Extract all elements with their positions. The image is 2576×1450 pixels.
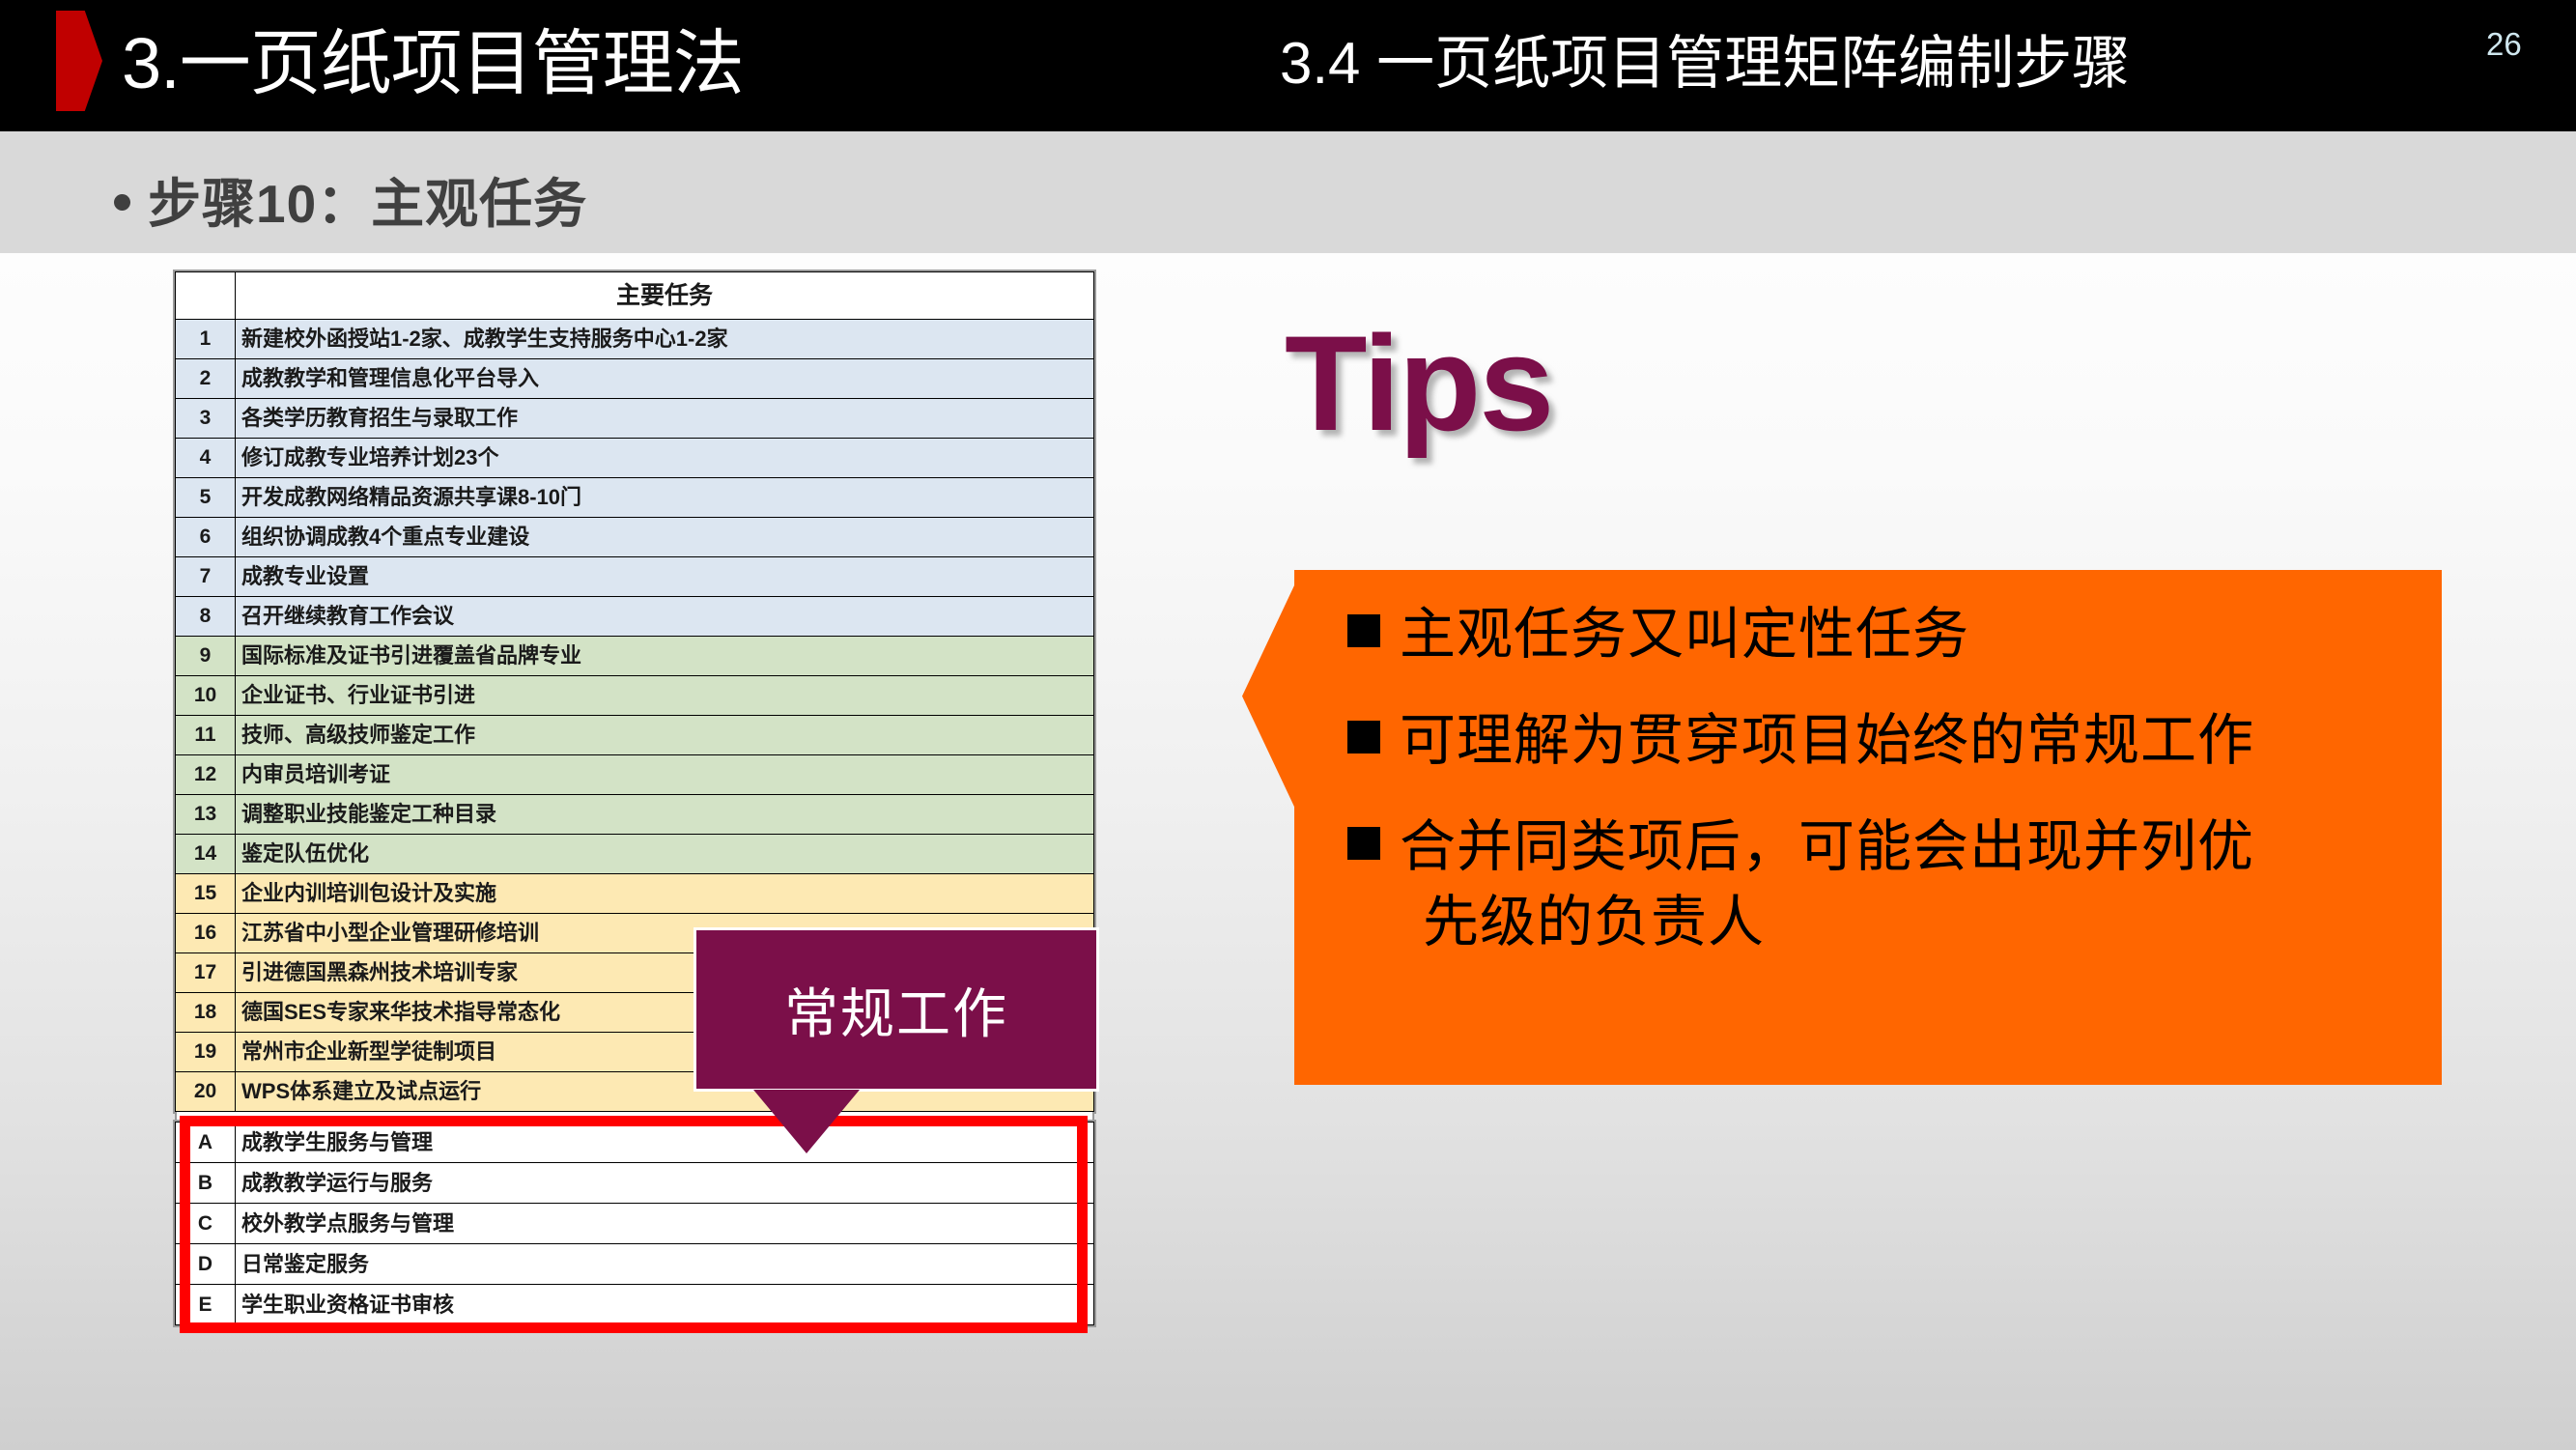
table-gap-spacer xyxy=(175,1112,1094,1122)
task-text-cell: 成教专业设置 xyxy=(236,557,1094,597)
routine-text-cell: 日常鉴定服务 xyxy=(236,1244,1094,1285)
routine-text-cell: 成教学生服务与管理 xyxy=(236,1123,1094,1163)
tips-list-item: 合并同类项后，可能会出现并列优先级的负责人 xyxy=(1347,810,2420,960)
table-row: 13调整职业技能鉴定工种目录 xyxy=(176,795,1094,835)
routine-text-cell: 学生职业资格证书审核 xyxy=(236,1285,1094,1325)
task-text-cell: 鉴定队伍优化 xyxy=(236,835,1094,874)
table-row: 11技师、高级技师鉴定工作 xyxy=(176,716,1094,755)
purple-callout-box: 常规工作 xyxy=(694,927,1099,1092)
task-index-cell: 8 xyxy=(176,597,236,637)
task-text-cell: 修订成教专业培养计划23个 xyxy=(236,439,1094,478)
step-heading: 步骤10：主观任务 xyxy=(114,155,1176,243)
task-text-cell: 内审员培训考证 xyxy=(236,755,1094,795)
task-text-cell: 国际标准及证书引进覆盖省品牌专业 xyxy=(236,637,1094,676)
step-heading-label: 步骤10：主观任务 xyxy=(148,160,587,238)
task-index-cell: 14 xyxy=(176,835,236,874)
routine-table-row: E学生职业资格证书审核 xyxy=(176,1285,1094,1325)
task-index-cell: 11 xyxy=(176,716,236,755)
routine-index-cell: E xyxy=(176,1285,236,1325)
tips-list-item-continuation: 先级的负责人 xyxy=(1400,885,2254,960)
task-index-cell: 1 xyxy=(176,320,236,359)
square-bullet-icon xyxy=(1347,721,1380,753)
task-text-cell: 技师、高级技师鉴定工作 xyxy=(236,716,1094,755)
table-row: 6组织协调成教4个重点专业建设 xyxy=(176,518,1094,557)
routine-index-cell: B xyxy=(176,1163,236,1204)
routine-table-row: B成教教学运行与服务 xyxy=(176,1163,1094,1204)
routine-index-cell: C xyxy=(176,1204,236,1244)
task-index-cell: 19 xyxy=(176,1033,236,1072)
table-row: 12内审员培训考证 xyxy=(176,755,1094,795)
task-index-cell: 16 xyxy=(176,914,236,953)
tips-list-item-label: 可理解为贯穿项目始终的常规工作 xyxy=(1400,703,2254,779)
task-index-cell: 15 xyxy=(176,874,236,914)
task-text-cell: 成教教学和管理信息化平台导入 xyxy=(236,359,1094,399)
task-index-cell: 6 xyxy=(176,518,236,557)
tips-title: Tips xyxy=(1285,311,1552,456)
task-index-cell: 3 xyxy=(176,399,236,439)
table-row: 3各类学历教育招生与录取工作 xyxy=(176,399,1094,439)
tips-list: 主观任务又叫定性任务可理解为贯穿项目始终的常规工作合并同类项后，可能会出现并列优… xyxy=(1347,597,2420,991)
task-index-cell: 20 xyxy=(176,1072,236,1112)
table-row: 15企业内训培训包设计及实施 xyxy=(176,874,1094,914)
slide-root: 3.一页纸项目管理法 3.4 一页纸项目管理矩阵编制步骤 26 步骤10：主观任… xyxy=(0,0,2576,1450)
table-header-row: 主要任务 xyxy=(176,272,1094,320)
routine-index-cell: D xyxy=(176,1244,236,1285)
table-row: 7成教专业设置 xyxy=(176,557,1094,597)
table-row: 4修订成教专业培养计划23个 xyxy=(176,439,1094,478)
section-subtitle: 3.4 一页纸项目管理矩阵编制步骤 xyxy=(1280,14,2130,114)
table-row: 10企业证书、行业证书引进 xyxy=(176,676,1094,716)
purple-callout-label: 常规工作 xyxy=(696,930,1096,1089)
task-text-cell: 企业证书、行业证书引进 xyxy=(236,676,1094,716)
task-index-cell: 17 xyxy=(176,953,236,993)
routine-text-cell: 成教教学运行与服务 xyxy=(236,1163,1094,1204)
task-index-cell: 13 xyxy=(176,795,236,835)
page-number: 26 xyxy=(2486,25,2522,64)
routine-table-row: A成教学生服务与管理 xyxy=(176,1123,1094,1163)
task-text-cell: 开发成教网络精品资源共享课8-10门 xyxy=(236,478,1094,518)
table-row: 9国际标准及证书引进覆盖省品牌专业 xyxy=(176,637,1094,676)
task-index-cell: 9 xyxy=(176,637,236,676)
square-bullet-icon xyxy=(1347,614,1380,647)
routine-text-cell: 校外教学点服务与管理 xyxy=(236,1204,1094,1244)
task-text-cell: 召开继续教育工作会议 xyxy=(236,597,1094,637)
routine-table-row: C校外教学点服务与管理 xyxy=(176,1204,1094,1244)
tips-list-item-label: 主观任务又叫定性任务 xyxy=(1400,597,1969,672)
task-index-cell: 2 xyxy=(176,359,236,399)
task-text-cell: 企业内训培训包设计及实施 xyxy=(236,874,1094,914)
task-index-cell: 12 xyxy=(176,755,236,795)
page-title: 3.一页纸项目管理法 xyxy=(122,6,744,122)
routine-task-table: A成教学生服务与管理B成教教学运行与服务C校外教学点服务与管理D日常鉴定服务E学… xyxy=(175,1122,1094,1325)
table-header-task-cell: 主要任务 xyxy=(236,272,1094,320)
tips-list-item: 可理解为贯穿项目始终的常规工作 xyxy=(1347,703,2420,779)
red-chevron-marker-icon xyxy=(56,11,102,111)
square-bullet-icon xyxy=(1347,827,1380,860)
task-index-cell: 5 xyxy=(176,478,236,518)
task-text-cell: 各类学历教育招生与录取工作 xyxy=(236,399,1094,439)
tips-list-item: 主观任务又叫定性任务 xyxy=(1347,597,2420,672)
task-index-cell: 18 xyxy=(176,993,236,1033)
task-index-cell: 4 xyxy=(176,439,236,478)
bullet-dot-icon xyxy=(114,194,130,211)
task-index-cell: 7 xyxy=(176,557,236,597)
table-row: 2成教教学和管理信息化平台导入 xyxy=(176,359,1094,399)
tips-list-item-label: 合并同类项后，可能会出现并列优先级的负责人 xyxy=(1400,810,2254,960)
routine-table-row: D日常鉴定服务 xyxy=(176,1244,1094,1285)
task-text-cell: 组织协调成教4个重点专业建设 xyxy=(236,518,1094,557)
task-index-cell: 10 xyxy=(176,676,236,716)
table-row: 14鉴定队伍优化 xyxy=(176,835,1094,874)
table-header-index-cell xyxy=(176,272,236,320)
table-row: 1新建校外函授站1-2家、成教学生支持服务中心1-2家 xyxy=(176,320,1094,359)
slide-header-bar: 3.一页纸项目管理法 3.4 一页纸项目管理矩阵编制步骤 26 xyxy=(0,0,2576,131)
routine-index-cell: A xyxy=(176,1123,236,1163)
task-text-cell: 新建校外函授站1-2家、成教学生支持服务中心1-2家 xyxy=(236,320,1094,359)
task-text-cell: 调整职业技能鉴定工种目录 xyxy=(236,795,1094,835)
table-row: 5开发成教网络精品资源共享课8-10门 xyxy=(176,478,1094,518)
table-row: 8召开继续教育工作会议 xyxy=(176,597,1094,637)
